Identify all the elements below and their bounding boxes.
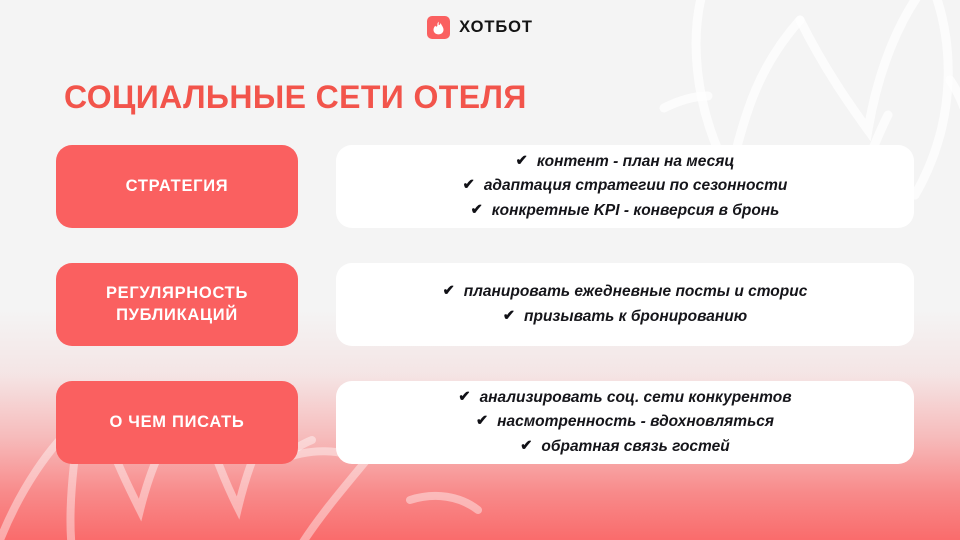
row-card-regularity: ✔ планировать ежедневные посты и сторис … (336, 263, 914, 346)
check-icon: ✔ (458, 386, 470, 408)
slide: ХОТБОТ СОЦИАЛЬНЫЕ СЕТИ ОТЕЛЯ СТРАТЕГИЯ ✔… (0, 0, 960, 540)
page-title: СОЦИАЛЬНЫЕ СЕТИ ОТЕЛЯ (64, 79, 527, 116)
list-item: ✔ призывать к бронированию (503, 305, 747, 329)
list-item-text: контент - план на месяц (537, 150, 735, 174)
content-rows: СТРАТЕГИЯ ✔ контент - план на месяц ✔ ад… (56, 145, 914, 464)
list-item-text: адаптация стратегии по сезонности (484, 174, 788, 198)
list-item: ✔ контент - план на месяц (516, 150, 735, 174)
row-card-strategy: ✔ контент - план на месяц ✔ адаптация ст… (336, 145, 914, 228)
content-row: О ЧЕМ ПИСАТЬ ✔ анализировать соц. сети к… (56, 381, 914, 464)
list-item: ✔ адаптация стратегии по сезонности (463, 174, 788, 198)
check-icon: ✔ (516, 150, 528, 172)
content-row: СТРАТЕГИЯ ✔ контент - план на месяц ✔ ад… (56, 145, 914, 228)
list-item: ✔ насмотренность - вдохновляться (476, 410, 774, 434)
check-icon: ✔ (463, 174, 475, 196)
flame-icon (427, 16, 450, 39)
check-icon: ✔ (503, 305, 515, 327)
row-card-what-to-write: ✔ анализировать соц. сети конкурентов ✔ … (336, 381, 914, 464)
check-icon: ✔ (520, 435, 532, 457)
logo-text: ХОТБОТ (459, 18, 533, 37)
content-row: РЕГУЛЯРНОСТЬ ПУБЛИКАЦИЙ ✔ планировать еж… (56, 263, 914, 346)
check-icon: ✔ (471, 199, 483, 221)
brand-logo: ХОТБОТ (0, 16, 960, 39)
check-icon: ✔ (476, 410, 488, 432)
row-label-strategy[interactable]: СТРАТЕГИЯ (56, 145, 298, 228)
list-item-text: конкретные KPI - конверсия в бронь (492, 199, 780, 223)
list-item: ✔ конкретные KPI - конверсия в бронь (471, 199, 780, 223)
list-item-text: планировать ежедневные посты и сторис (464, 280, 808, 304)
list-item-text: призывать к бронированию (524, 305, 747, 329)
list-item-text: насмотренность - вдохновляться (497, 410, 774, 434)
list-item: ✔ обратная связь гостей (520, 435, 729, 459)
check-icon: ✔ (443, 280, 455, 302)
list-item: ✔ анализировать соц. сети конкурентов (458, 386, 791, 410)
list-item-text: обратная связь гостей (541, 435, 729, 459)
row-label-regularity[interactable]: РЕГУЛЯРНОСТЬ ПУБЛИКАЦИЙ (56, 263, 298, 346)
row-label-what-to-write[interactable]: О ЧЕМ ПИСАТЬ (56, 381, 298, 464)
list-item-text: анализировать соц. сети конкурентов (480, 386, 792, 410)
list-item: ✔ планировать ежедневные посты и сторис (443, 280, 808, 304)
